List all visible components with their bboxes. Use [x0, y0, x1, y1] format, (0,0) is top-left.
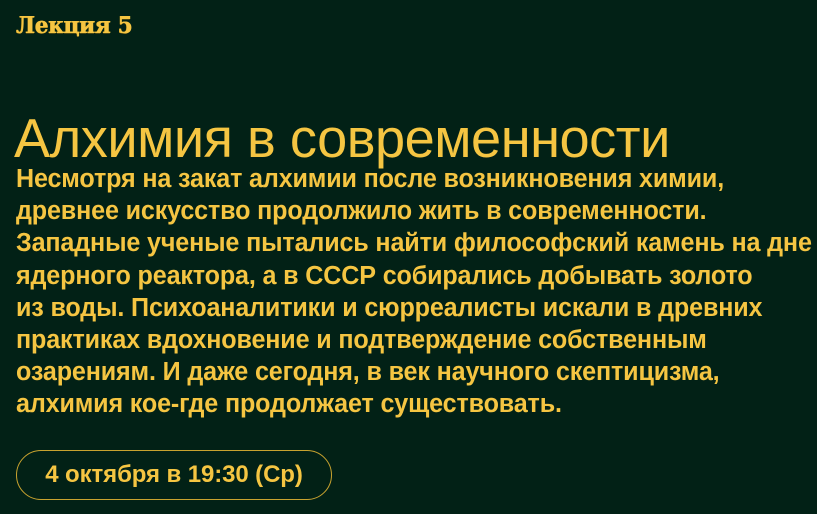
description-line: древнее искусство продолжило жить в совр… [16, 195, 786, 227]
description-line: алхимия кое-где продолжает существовать. [16, 388, 786, 420]
lecture-number-label: Лекция 5 [16, 13, 132, 39]
lecture-description: Несмотря на закат алхимии после возникно… [16, 163, 786, 421]
description-line: ядерного реактора, а в СССР собирались д… [16, 260, 786, 292]
description-line: озарениям. И даже сегодня, в век научног… [16, 356, 786, 388]
lecture-date-button[interactable]: 4 октября в 19:30 (Ср) [16, 450, 332, 500]
description-line: Несмотря на закат алхимии после возникно… [16, 163, 786, 195]
page-title: Алхимия в современности [14, 109, 792, 167]
description-line: практиках вдохновение и подтверждение со… [16, 324, 786, 356]
description-line: из воды. Психоаналитики и сюрреалисты ис… [16, 292, 786, 324]
lecture-announcement-slide: Лекция 5 Алхимия в современности Несмотр… [0, 0, 817, 514]
description-line: Западные ученые пытались найти философск… [16, 227, 786, 259]
